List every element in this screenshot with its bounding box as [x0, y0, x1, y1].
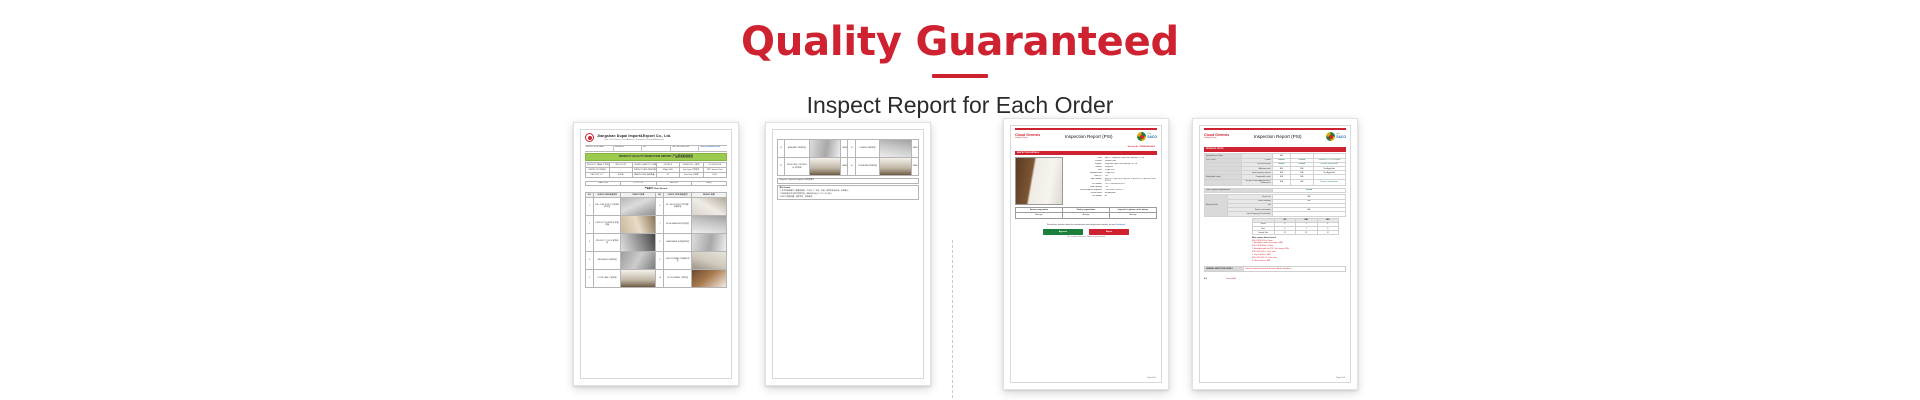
inspection-photo: [692, 198, 726, 215]
inspection-photo: [621, 234, 655, 251]
document-page-2: 11 ASSEMBLY 组装检查 PASS 13 LOADING 装柜检查 PA…: [772, 129, 924, 379]
approve-button[interactable]: Approve: [1043, 229, 1083, 236]
header-block: Quality Guaranteed Inspect Report for Ea…: [0, 0, 1920, 120]
psi-electrical-tests-table: Electrical Tests Hi-pot test N/A Earth c…: [1204, 194, 1346, 216]
section-divider: [952, 240, 953, 400]
inspection-photo: [880, 140, 911, 157]
psi-letterhead-4: Cloud Genesis Intelligent Testing Inspec…: [1200, 130, 1350, 143]
saco-mark-icon: [1326, 132, 1335, 141]
document-page-3: Cloud Genesis Intelligent Testing Inspec…: [1010, 125, 1162, 383]
psi-coop-col-2: Inspector's opinion on the factory Avera…: [1110, 208, 1156, 218]
table-row: 5 DOOR LEAF 门扇检查 10 DOOR FRAME 门套检查: [586, 269, 727, 287]
psi-aql-table: CRI MAJ MIN Found 0 1 4 Max 0 2 3: [1252, 218, 1339, 235]
doc1-summary-row: PASS 合格 II / 2.5 / 4.0 CARTON 40HQ: [586, 181, 727, 186]
doc1-contact-2: Mr.: [642, 146, 671, 151]
psi-aql-row-label: AQL: [1204, 278, 1208, 280]
inspection-photo: [692, 234, 726, 251]
inspection-photo: [621, 216, 655, 233]
inspection-photo: [621, 252, 655, 269]
inspection-photo: [692, 270, 726, 287]
inspection-photo: [621, 270, 655, 287]
psi-results-table: Specifications Check N/A COC Check Passe…: [1204, 153, 1346, 186]
psi-coop-col-1: Factory organization Average: [1063, 208, 1110, 218]
document-thumbnail-1[interactable]: Jiangshan Dupai Import&Export Co., Ltd. …: [573, 122, 739, 386]
saco-logo-latin: SACO: [1147, 135, 1157, 139]
page-title: Quality Guaranteed: [0, 20, 1920, 64]
doc1-photo-table: NO. CHECK ITEM 检查项目 RESULT 结果 NO. CHECK …: [585, 192, 727, 288]
psi-defects-list: Most serious defects found: SKU# DPB-201…: [1252, 237, 1346, 263]
psi-product-photo: [1015, 157, 1063, 205]
reject-button[interactable]: Reject: [1089, 229, 1129, 236]
psi-general-remark-text: Passed, Limited final test finish decisi…: [1244, 267, 1345, 271]
document-thumbnail-4[interactable]: Cloud Genesis Intelligent Testing Inspec…: [1192, 118, 1358, 390]
company-logo-icon: [585, 133, 594, 142]
doc1-company-name: Jiangshan Dupai Import&Export Co., Ltd.: [597, 134, 671, 138]
psi-field: Ref sampleNo: [1065, 195, 1157, 198]
doc1-company-tagline: Door / Door Frame / Door Hardware / Door…: [597, 139, 671, 141]
table-row: Test (Hi-Pot test) Adhesive test / Perfo…: [1205, 179, 1346, 185]
psi-section-header: INSPECTION DETAILS: [1015, 151, 1157, 156]
doc1-info-table: PRODUCT NAME 产品名称WPC DOOR ORDER QUANTITY…: [585, 162, 727, 178]
doc2-remark-line-2: 3. 照片为现场拍摄，真实有效，存档备查。: [780, 196, 917, 199]
psi-decision-text: Record your decision about the manufactu…: [1017, 224, 1155, 226]
doc1-contact-3: +86 138 0000 0000: [671, 146, 700, 151]
document-thumbnail-3[interactable]: Cloud Genesis Intelligent Testing Inspec…: [1003, 118, 1169, 390]
psi-coop-col-0: Factory cooperation Average: [1016, 208, 1063, 218]
psi-defect-item: 4. Gloss surface x MIN: [1252, 260, 1346, 263]
doc1-contact-4: sales@dupaidoor.com: [699, 146, 727, 151]
saco-logo-text: ساكو SACO: [1336, 134, 1346, 139]
doc1-photo-caption: 产品照片 Photo Record: [585, 188, 727, 191]
doc2-signature-label: Inspector / Inspection Signature 检验员签字: [780, 179, 815, 181]
saco-logo-text: ساكو SACO: [1147, 134, 1157, 139]
table-row: 4 PACKAGING 包装检查 9 CARTON MARK 外箱唛头检查: [586, 251, 727, 269]
psi-special-requirements-row: Tests & Special Requirements Passed: [1204, 188, 1346, 193]
table-row: Tests & Special Requirements Passed: [1205, 188, 1346, 192]
psi-section-header: DETAILED TESTS: [1204, 147, 1346, 152]
saco-logo-latin: SACO: [1336, 135, 1346, 139]
doc1-contact-1: Reference: [614, 146, 643, 151]
page-subtitle: Inspect Report for Each Order: [0, 92, 1920, 120]
doc1-letterhead: Jiangshan Dupai Import&Export Co., Ltd. …: [581, 130, 731, 143]
psi-general-aql-label: General AQL: [1226, 278, 1236, 280]
document-gallery: Jiangshan Dupai Import&Export Co., Ltd. …: [0, 118, 1920, 398]
psi-brand-tagline: Intelligent Testing: [1015, 138, 1040, 140]
saco-mark-icon: [1137, 132, 1146, 141]
psi-detail-grid: ClientSACO - Jiangshan Dupai Door Indust…: [1015, 157, 1157, 205]
psi-serial-number: Service No. TIS202004-0001: [1011, 146, 1155, 149]
doc2-signature-row: Inspector / Inspection Signature 检验员签字: [777, 178, 919, 184]
psi-report-title: Inspection Report (PSI): [1232, 134, 1323, 140]
doc2-remark-box: 备注 Remark: 1. 本次检验按客户订单要求抽检，产品尺寸、外观、包装、装…: [777, 185, 919, 200]
inspection-photo: [810, 158, 841, 175]
doc1-info-row-2: FACTORY 工厂DUPAI SAMPLE SIZE 抽检数量32 Pass …: [586, 173, 727, 178]
saco-logo: ساكو SACO: [1326, 132, 1346, 141]
psi-general-remark-label: GENERAL INSPECTION DETAILS: [1205, 267, 1244, 271]
document-page-1: Jiangshan Dupai Import&Export Co., Ltd. …: [580, 129, 732, 379]
doc1-green-banner: PRODUCT QUALITY INSPECTION REPORT 产品质量检验…: [585, 153, 727, 161]
psi-cooperation-table: Factory cooperation Average Factory orga…: [1015, 207, 1157, 219]
table-row: 3 PRODUCT COLOR 颜色检查 8 HARDWARE 五金配件检查: [586, 233, 727, 251]
inspection-photo: [880, 158, 911, 175]
psi-general-remark: GENERAL INSPECTION DETAILS Passed, Limit…: [1204, 266, 1346, 272]
table-row: Sample Size 32 32 32: [1253, 231, 1339, 235]
inspection-photo: [621, 198, 655, 215]
psi-letterhead-3: Cloud Genesis Intelligent Testing Inspec…: [1011, 130, 1161, 143]
table-row: 12 MOISTURE CONTENT 含水率检测 PASS 14 CONTAI…: [778, 158, 919, 176]
psi-decision-buttons: Approve Reject: [1017, 229, 1155, 236]
table-row: 1 FULL LINE SIZE 尺寸规格检验 检查 6 AT. GROOVIN…: [586, 197, 727, 215]
psi-brand-tagline: Intelligent Testing: [1204, 138, 1229, 140]
psi-page-footer-4: Page 2 of 2: [1336, 377, 1345, 379]
table-row: 2 PRODUCT SURFACE 表面质量 7 EDGE BANDING 封边…: [586, 215, 727, 233]
inspection-photo: [692, 252, 726, 269]
inspection-photo: [692, 216, 726, 233]
title-underline-rule: [932, 74, 988, 78]
saco-logo: ساكو SACO: [1137, 132, 1157, 141]
page-root: Quality Guaranteed Inspect Report for Ea…: [0, 0, 1920, 400]
doc1-summary-table: PASS 合格 II / 2.5 / 4.0 CARTON 40HQ: [585, 181, 727, 187]
table-row: 11 ASSEMBLY 组装检查 PASS 13 LOADING 装柜检查 PA…: [778, 140, 919, 158]
doc1-contact-strip: INSPECTION DATE Reference Mr. +86 138 00…: [585, 145, 727, 152]
psi-decision-block: Record your decision about the manufactu…: [1017, 224, 1155, 239]
document-thumbnail-2[interactable]: 11 ASSEMBLY 组装检查 PASS 13 LOADING 装柜检查 PA…: [765, 122, 931, 386]
psi-field-list: ClientSACO - Jiangshan Dupai Door Indust…: [1065, 157, 1157, 205]
dashboard-link[interactable]: Dashboard: [1116, 224, 1125, 226]
psi-decision-hint: (You can opt to inform your Supplier of …: [1017, 237, 1155, 239]
inspection-photo: [810, 140, 841, 157]
psi-report-title: Inspection Report (PSI): [1043, 134, 1134, 140]
psi-page-footer-3: Page 1 of 2: [1147, 377, 1156, 379]
doc1-contact-0: INSPECTION DATE: [585, 146, 614, 151]
doc2-photo-table: 11 ASSEMBLY 组装检查 PASS 13 LOADING 装柜检查 PA…: [777, 139, 919, 176]
document-page-4: Cloud Genesis Intelligent Testing Inspec…: [1199, 125, 1351, 383]
